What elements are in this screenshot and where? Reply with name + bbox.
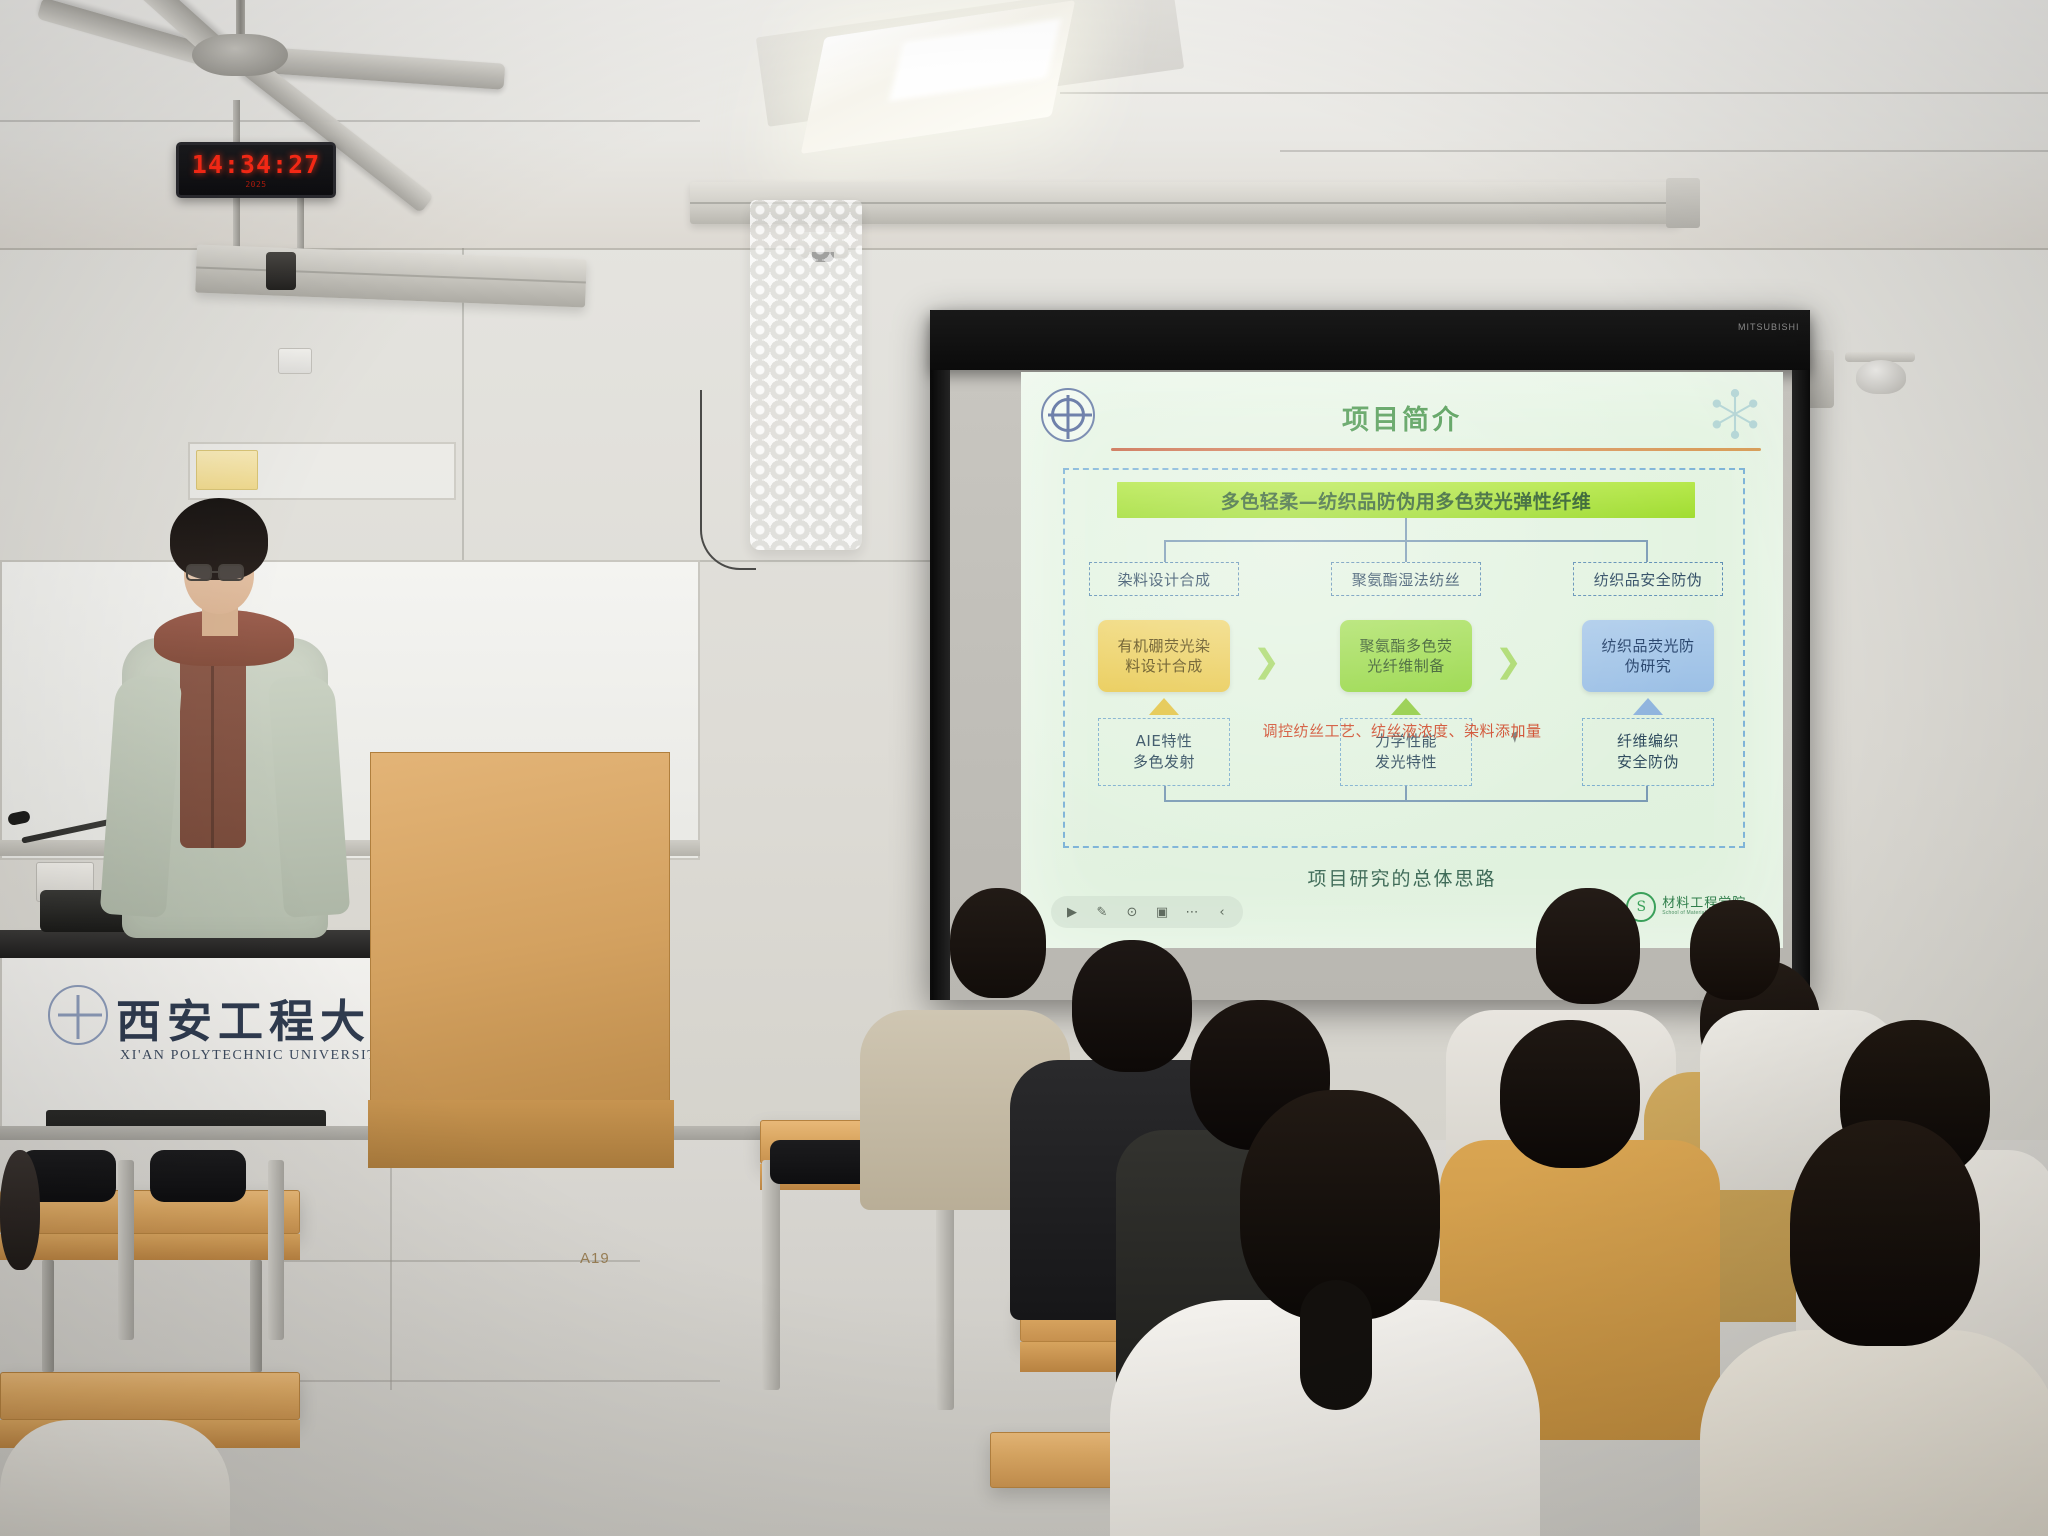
- laser-pointer-icon[interactable]: ⊙: [1119, 899, 1145, 925]
- process-line-1: 纺织品荧光防: [1601, 636, 1694, 656]
- safety-poster: [196, 450, 258, 490]
- category-box: 聚氨酯湿法纺丝: [1331, 562, 1481, 596]
- process-box: 纺织品荧光防 伪研究: [1582, 620, 1714, 692]
- connector: [1405, 540, 1407, 562]
- connector: [1164, 800, 1648, 802]
- project-banner: 多色轻柔—纺织品防伪用多色荧光弹性纤维: [1117, 482, 1695, 518]
- lecture-hall-scene: 14:34:27 2025 MITSUBISHI 项目简介: [0, 0, 2048, 1536]
- chevron-right-icon: ❯: [1495, 645, 1522, 677]
- clock-date: 2025: [245, 180, 266, 189]
- connector: [1405, 518, 1407, 540]
- floor-tile-line: [300, 1380, 720, 1382]
- process-note: 调控纺丝工艺、纺丝液浓度、染料添加量: [1021, 720, 1783, 741]
- more-options-icon[interactable]: ⋯: [1179, 899, 1205, 925]
- wrapped-column: [750, 200, 862, 550]
- category-box: 纺织品安全防伪: [1573, 562, 1723, 596]
- led-wall-clock: 14:34:27 2025: [176, 142, 336, 198]
- ceiling-speaker: [266, 252, 296, 290]
- screen-housing: [930, 310, 1810, 370]
- category-box: 染料设计合成: [1089, 562, 1239, 596]
- connector: [1164, 540, 1166, 562]
- chair-backrest[interactable]: [150, 1150, 246, 1202]
- ceiling-seam: [0, 120, 700, 122]
- desk-leg: [250, 1260, 262, 1372]
- triangle-up-icon: [1633, 698, 1663, 715]
- ceiling-seam: [1280, 150, 2048, 152]
- result-line-2: 发光特性: [1375, 752, 1437, 773]
- wall-socket[interactable]: [278, 348, 312, 374]
- slide-title: 项目简介: [1021, 398, 1783, 437]
- jacket-zipper: [211, 658, 214, 848]
- screen-brand-label: MITSUBISHI: [1738, 322, 1800, 332]
- screen-edge-right: [1792, 370, 1810, 1000]
- title-underline: [1111, 448, 1761, 451]
- student-desk: [0, 1372, 300, 1420]
- connector: [1646, 540, 1648, 562]
- glasses-bridge-icon: [212, 571, 220, 573]
- chair-frame: [936, 1180, 954, 1410]
- process-line-2: 光纤维制备: [1367, 656, 1445, 676]
- floor-tile-line: [390, 1140, 392, 1390]
- chevron-right-icon: ❯: [1253, 645, 1280, 677]
- hanging-cable: [700, 390, 756, 570]
- glasses-lens-left-icon: [186, 564, 212, 581]
- process-line-1: 聚氨酯多色荧: [1359, 636, 1452, 656]
- process-box: 有机硼荧光染 料设计合成: [1098, 620, 1230, 692]
- security-camera: [1856, 360, 1906, 394]
- ponytail: [1300, 1280, 1372, 1410]
- triangle-up-icon: [1391, 698, 1421, 715]
- snowflake-decoration-icon: [1709, 388, 1761, 440]
- result-line-2: 多色发射: [1133, 752, 1195, 773]
- screen-edge-left: [932, 370, 950, 1000]
- university-crest-icon: [48, 985, 108, 1045]
- presenter-person: [98, 498, 348, 958]
- research-flow-diagram: 多色轻柔—纺织品防伪用多色荧光弹性纤维 染料设计合成 聚氨酯湿法纺丝 纺织品安全…: [1063, 468, 1745, 848]
- student-desk-edge: [0, 1234, 300, 1260]
- student-desk: [370, 752, 670, 1112]
- clock-time: 14:34:27: [192, 152, 320, 177]
- ceiling-fan-hub: [192, 34, 288, 76]
- back-icon[interactable]: ‹: [1209, 899, 1235, 925]
- duct-end-cap: [1666, 178, 1700, 228]
- process-line-2: 伪研究: [1625, 656, 1672, 676]
- slide-caption: 项目研究的总体思路: [1021, 864, 1783, 891]
- process-line-1: 有机硼荧光染: [1117, 636, 1210, 656]
- connector: [1405, 786, 1407, 800]
- connector: [1646, 786, 1648, 800]
- student-desk-front: [368, 1100, 674, 1168]
- desk-leg: [42, 1260, 54, 1372]
- pen-icon[interactable]: ✎: [1089, 899, 1115, 925]
- presenter-toolbar[interactable]: ▶ ✎ ⊙ ▣ ⋯ ‹: [1051, 896, 1243, 928]
- ceiling-seam: [1060, 92, 2048, 94]
- process-line-2: 料设计合成: [1125, 656, 1203, 676]
- chair-frame: [762, 1160, 780, 1390]
- presentation-slide: 项目简介 多色轻柔—纺织品防伪用多色荧光弹性纤维 染: [1021, 372, 1783, 948]
- chair-frame: [118, 1160, 134, 1340]
- desk-label: A19: [580, 1250, 610, 1267]
- play-icon[interactable]: ▶: [1059, 899, 1085, 925]
- chair-frame: [268, 1160, 284, 1340]
- university-name-en: XI'AN POLYTECHNIC UNIVERSITY: [120, 1048, 389, 1064]
- glasses-lens-right-icon: [218, 564, 244, 581]
- camera-icon[interactable]: ▣: [1149, 899, 1175, 925]
- result-line-2: 安全防伪: [1617, 752, 1679, 773]
- connector: [1164, 786, 1166, 800]
- process-box: 聚氨酯多色荧 光纤维制备: [1340, 620, 1472, 692]
- triangle-up-icon: [1149, 698, 1179, 715]
